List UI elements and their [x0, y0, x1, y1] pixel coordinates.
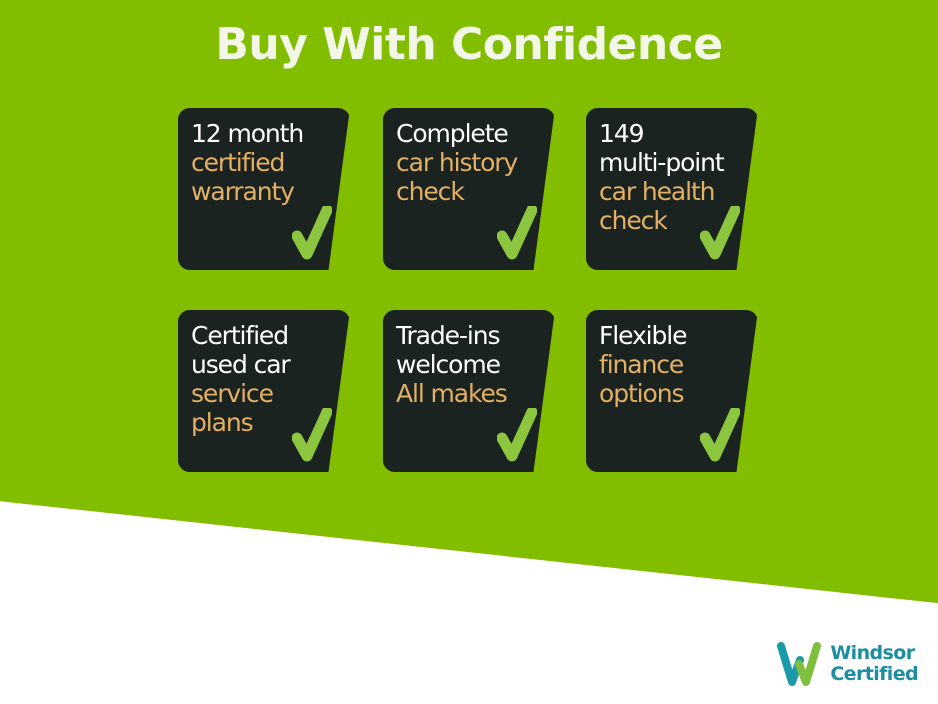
card-line: Complete: [396, 119, 529, 148]
feature-card-multi-point-health-check[interactable]: 149 multi-point car health check: [586, 108, 758, 270]
card-line: 149: [599, 119, 732, 148]
card-line: multi-point: [599, 148, 732, 177]
card-line: finance: [599, 350, 732, 379]
check-icon: [292, 408, 332, 464]
logo-line-2: Certified: [830, 664, 918, 685]
card-text-block: 12 month certified warranty: [191, 119, 324, 206]
feature-card-row-2: Certified used car service plans Trade-i…: [178, 310, 760, 472]
feature-card-flexible-finance[interactable]: Flexible finance options: [586, 310, 758, 472]
card-line: warranty: [191, 177, 324, 206]
card-text-block: Complete car history check: [396, 119, 529, 206]
logo-wordmark: Windsor Certified: [830, 643, 918, 685]
card-line: service: [191, 379, 324, 408]
card-line: Certified: [191, 321, 324, 350]
card-text-block: Trade-ins welcome All makes: [396, 321, 529, 408]
card-line: welcome: [396, 350, 529, 379]
feature-card-certified-warranty[interactable]: 12 month certified warranty: [178, 108, 350, 270]
logo-line-1: Windsor: [830, 643, 918, 664]
windsor-w-icon: [776, 642, 822, 686]
card-text-block: Flexible finance options: [599, 321, 732, 408]
card-line: 12 month: [191, 119, 324, 148]
card-line: Flexible: [599, 321, 732, 350]
card-line: check: [396, 177, 529, 206]
feature-card-row-1: 12 month certified warranty Complete car…: [178, 108, 760, 270]
check-icon: [497, 206, 537, 262]
windsor-certified-logo: Windsor Certified: [776, 642, 918, 686]
check-icon: [700, 408, 740, 464]
card-line: certified: [191, 148, 324, 177]
feature-card-car-history-check[interactable]: Complete car history check: [383, 108, 555, 270]
check-icon: [497, 408, 537, 464]
feature-card-trade-ins-welcome[interactable]: Trade-ins welcome All makes: [383, 310, 555, 472]
card-line: car history: [396, 148, 529, 177]
card-line: used car: [191, 350, 324, 379]
promo-banner: Buy With Confidence 12 month certified w…: [0, 0, 938, 704]
check-icon: [292, 206, 332, 262]
page-title: Buy With Confidence: [0, 19, 938, 70]
feature-card-grid: 12 month certified warranty Complete car…: [178, 108, 760, 472]
card-line: options: [599, 379, 732, 408]
feature-card-service-plans[interactable]: Certified used car service plans: [178, 310, 350, 472]
check-icon: [700, 206, 740, 262]
card-line: Trade-ins: [396, 321, 529, 350]
card-line: car health: [599, 177, 732, 206]
card-line: All makes: [396, 379, 529, 408]
